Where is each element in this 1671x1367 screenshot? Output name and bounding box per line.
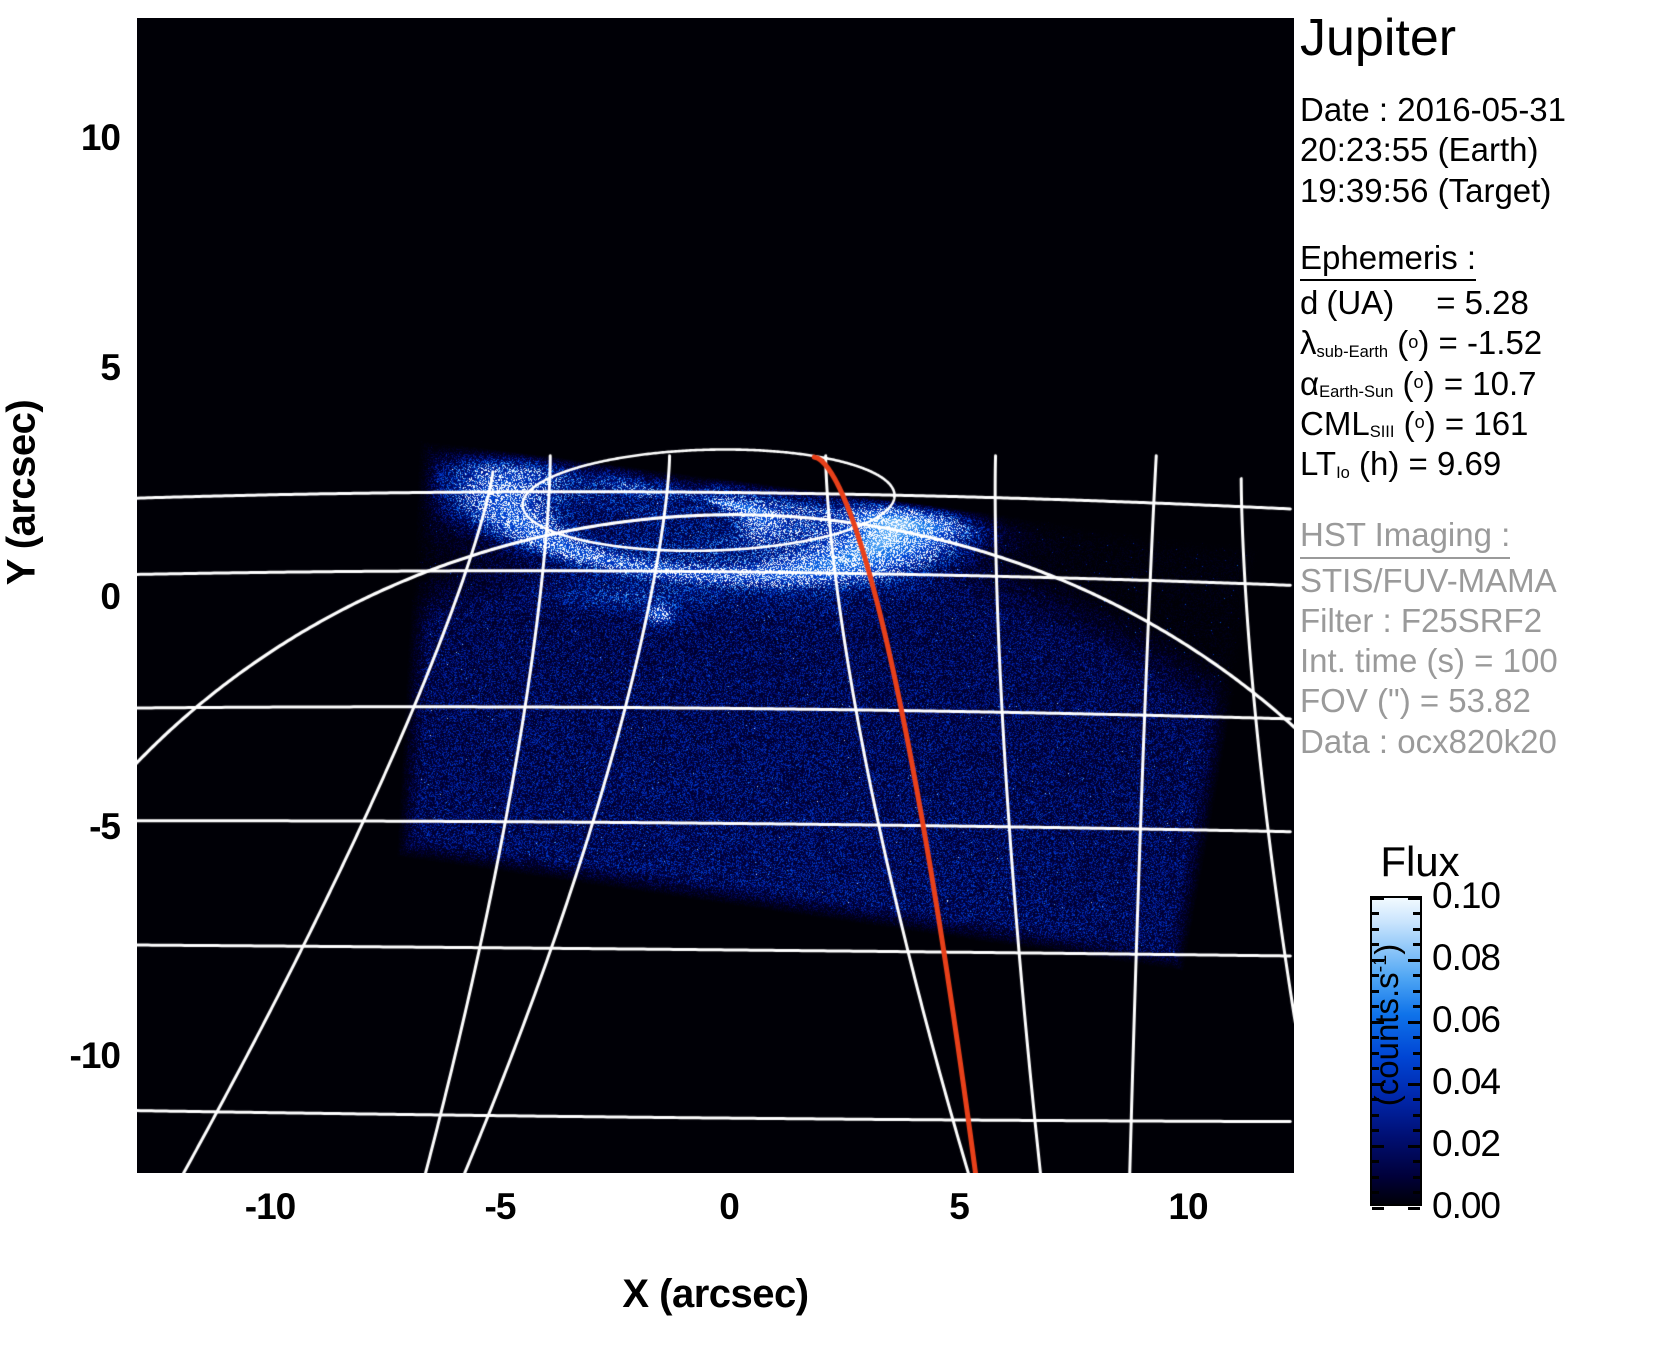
colorbar-tick-minor — [1413, 990, 1420, 993]
colorbar-tick-label: 0.10 — [1432, 875, 1500, 917]
colorbar-tick-label: 0.04 — [1432, 1061, 1500, 1103]
y-axis-title: Y (arcsec) — [0, 283, 45, 703]
colorbar-tick-major — [1408, 1083, 1420, 1086]
colorbar-tick-label: 0.02 — [1432, 1123, 1500, 1165]
colorbar-tick-major — [1408, 897, 1420, 900]
target-title: Jupiter — [1300, 12, 1660, 64]
ephemeris-eq: = — [1438, 324, 1457, 361]
ephemeris-heading: Ephemeris : — [1300, 237, 1476, 281]
colorbar-tick-major — [1408, 1145, 1420, 1148]
colorbar-tick-minor — [1413, 1114, 1420, 1117]
colorbar-tick-minor — [1413, 974, 1420, 977]
colorbar-tick-minor — [1413, 943, 1420, 946]
ephemeris-row-phase-angle: αEarth-Sun (o) = 10.7 — [1300, 364, 1660, 404]
y-tick-label: 10 — [10, 117, 120, 159]
info-panel: Jupiter Date : 2016-05-31 20:23:55 (Eart… — [1300, 12, 1660, 762]
colorbar-tick-minor — [1372, 1191, 1379, 1194]
y-tick-label: -10 — [10, 1035, 120, 1077]
colorbar-tick-minor — [1413, 1191, 1420, 1194]
ephemeris-eq: = — [1409, 445, 1428, 482]
hst-field-of-view: FOV (") = 53.82 — [1300, 681, 1660, 721]
aurora-image-canvas — [137, 18, 1294, 1173]
x-tick-label: -5 — [440, 1186, 560, 1228]
ephemeris-eq: = — [1436, 284, 1455, 321]
ephemeris-value: -1.52 — [1467, 324, 1542, 361]
ephemeris-unit: (o) — [1404, 405, 1436, 442]
colorbar-tick-minor — [1372, 1160, 1379, 1163]
ephemeris-value: 10.7 — [1472, 365, 1536, 402]
colorbar-tick-minor — [1413, 1129, 1420, 1132]
y-tick-label: -5 — [10, 806, 120, 848]
x-tick-label: -10 — [210, 1186, 330, 1228]
ephemeris-symbol: CML — [1300, 405, 1370, 442]
colorbar-tick-minor — [1413, 1036, 1420, 1039]
ephemeris-subscript: SIII — [1370, 423, 1395, 441]
ephemeris-value: 5.28 — [1465, 284, 1529, 321]
hst-integration-time: Int. time (s) = 100 — [1300, 641, 1660, 681]
x-tick-label: 10 — [1128, 1186, 1248, 1228]
colorbar-tick-minor — [1413, 1005, 1420, 1008]
x-tick-label: 5 — [899, 1186, 1019, 1228]
ephemeris-row-distance: d(UA)= 5.28 — [1300, 283, 1660, 323]
ephemeris-eq: = — [1444, 365, 1463, 402]
x-tick-label: 0 — [669, 1186, 789, 1228]
colorbar-tick-minor — [1413, 1052, 1420, 1055]
observation-time-earth: 20:23:55 (Earth) — [1300, 130, 1660, 170]
ephemeris-row-io-local-time: LTIo (h) = 9.69 — [1300, 444, 1660, 484]
colorbar-tick-minor — [1413, 1098, 1420, 1101]
colorbar-tick-minor — [1413, 1160, 1420, 1163]
ephemeris-row-sub-earth-latitude: λsub-Earth (o) = -1.52 — [1300, 323, 1660, 363]
ephemeris-unit: (o) — [1403, 365, 1435, 402]
colorbar-tick-label: 0.08 — [1432, 937, 1500, 979]
ephemeris-subscript: Io — [1336, 464, 1350, 482]
colorbar-tick-label: 0.00 — [1432, 1185, 1500, 1227]
ephemeris-symbol: λ — [1300, 324, 1317, 361]
ephemeris-subscript: Earth-Sun — [1319, 383, 1393, 401]
ephemeris-symbol: α — [1300, 365, 1319, 402]
colorbar-tick-minor — [1413, 912, 1420, 915]
colorbar-tick-minor — [1413, 1176, 1420, 1179]
colorbar-unit-label: (counts.s-1) — [1368, 890, 1406, 1160]
observation-date-block: Date : 2016-05-31 20:23:55 (Earth) 19:39… — [1300, 90, 1660, 211]
colorbar-tick-major — [1408, 1021, 1420, 1024]
aurora-image-plot — [137, 18, 1294, 1173]
ephemeris-symbol: d — [1300, 284, 1318, 321]
colorbar-tick-minor — [1413, 1067, 1420, 1070]
ephemeris-symbol: LT — [1300, 445, 1336, 482]
ephemeris-value: 9.69 — [1437, 445, 1501, 482]
hst-instrument: STIS/FUV-MAMA — [1300, 561, 1660, 601]
hst-filter: Filter : F25SRF2 — [1300, 601, 1660, 641]
ephemeris-subscript: sub-Earth — [1317, 343, 1389, 361]
ephemeris-eq: = — [1445, 405, 1464, 442]
colorbar-tick-major — [1408, 1207, 1420, 1210]
observation-date: Date : 2016-05-31 — [1300, 90, 1660, 130]
ephemeris-unit: (o) — [1397, 324, 1429, 361]
colorbar-tick-minor — [1372, 1176, 1379, 1179]
flux-colorbar: Flux 0.100.080.060.040.020.00 (counts.s-… — [1330, 838, 1671, 1238]
colorbar-tick-label: 0.06 — [1432, 999, 1500, 1041]
ephemeris-row-cml: CMLSIII (o) = 161 — [1300, 404, 1660, 444]
ephemeris-block: Ephemeris : d(UA)= 5.28 λsub-Earth (o) =… — [1300, 237, 1660, 485]
ephemeris-value: 161 — [1473, 405, 1528, 442]
ephemeris-unit: (UA) — [1326, 284, 1394, 321]
observation-time-target: 19:39:56 (Target) — [1300, 171, 1660, 211]
colorbar-tick-major — [1372, 1207, 1384, 1210]
x-axis-title: X (arcsec) — [137, 1272, 1294, 1317]
hst-imaging-block: HST Imaging : STIS/FUV-MAMA Filter : F25… — [1300, 514, 1660, 762]
colorbar-tick-minor — [1413, 928, 1420, 931]
colorbar-tick-major — [1408, 959, 1420, 962]
hst-imaging-heading: HST Imaging : — [1300, 514, 1510, 558]
hst-dataset-id: Data : ocx820k20 — [1300, 722, 1660, 762]
ephemeris-unit: (h) — [1359, 445, 1399, 482]
